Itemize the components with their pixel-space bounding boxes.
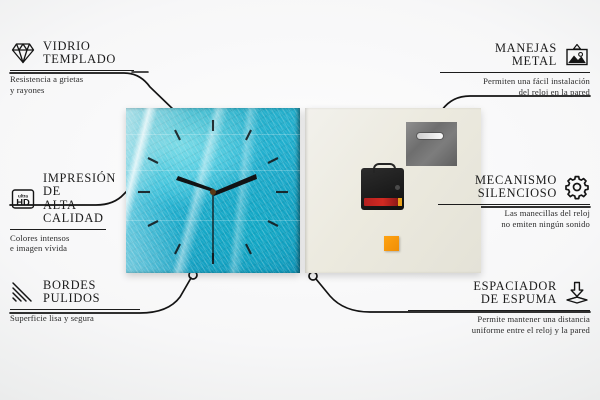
foam-spacer-pad [384, 236, 399, 251]
gear-icon [564, 174, 590, 200]
clock-front-face [126, 108, 300, 273]
svg-text:HD: HD [16, 196, 30, 207]
polished-edges-icon [10, 279, 36, 305]
feature-title: Vidrio Templado [43, 40, 116, 67]
quartz-movement-box [361, 168, 404, 210]
hanging-frame-icon [564, 42, 590, 68]
divider [10, 229, 106, 230]
divider [408, 310, 590, 311]
feature-impresion-alta-calidad: ultra HD Impresión de Alta Calidad Color… [10, 172, 106, 254]
aa-battery [364, 198, 398, 206]
feature-desc: Permite mantener una distancia uniforme … [408, 314, 590, 335]
clock-dial [126, 108, 300, 273]
feature-espaciador-espuma: Espaciador de Espuma Permite mantener un… [408, 280, 590, 335]
metal-hanger-plate [406, 122, 457, 166]
divider [438, 204, 590, 205]
feature-manejas-metal: Manejas Metal Permiten una fácil instala… [440, 42, 590, 97]
feature-title: Bordes Pulidos [43, 279, 100, 306]
product-image [126, 108, 481, 273]
feature-desc: Las manecillas del reloj no emiten ningú… [438, 208, 590, 229]
feature-desc: Colores intensos e imagen vívida [10, 233, 106, 254]
feature-bordes-pulidos: Bordes Pulidos Superficie lisa y segura [10, 279, 140, 324]
feature-desc: Superficie lisa y segura [10, 313, 140, 323]
foam-spacer-icon [564, 280, 590, 306]
mechanism-knob [395, 185, 400, 190]
infographic-canvas: Vidrio Templado Resistencia a grietas y … [0, 0, 600, 400]
divider [10, 70, 134, 71]
feature-title: Impresión de Alta Calidad [43, 172, 116, 226]
feature-vidrio-templado: Vidrio Templado Resistencia a grietas y … [10, 40, 134, 95]
ultra-hd-icon: ultra HD [10, 186, 36, 212]
hanger-slot [417, 133, 443, 139]
feature-title: Espaciador de Espuma [473, 280, 557, 307]
divider [440, 72, 590, 73]
feature-mecanismo-silencioso: Mecanismo Silencioso Las manecillas del … [438, 174, 590, 229]
feature-title: Mecanismo Silencioso [475, 174, 557, 201]
feature-desc: Resistencia a grietas y rayones [10, 74, 134, 95]
diamond-icon [10, 40, 36, 66]
feature-desc: Permiten una fácil instalación del reloj… [440, 76, 590, 97]
divider [10, 309, 140, 310]
mechanism-hook [373, 163, 396, 173]
feature-title: Manejas Metal [495, 42, 557, 69]
